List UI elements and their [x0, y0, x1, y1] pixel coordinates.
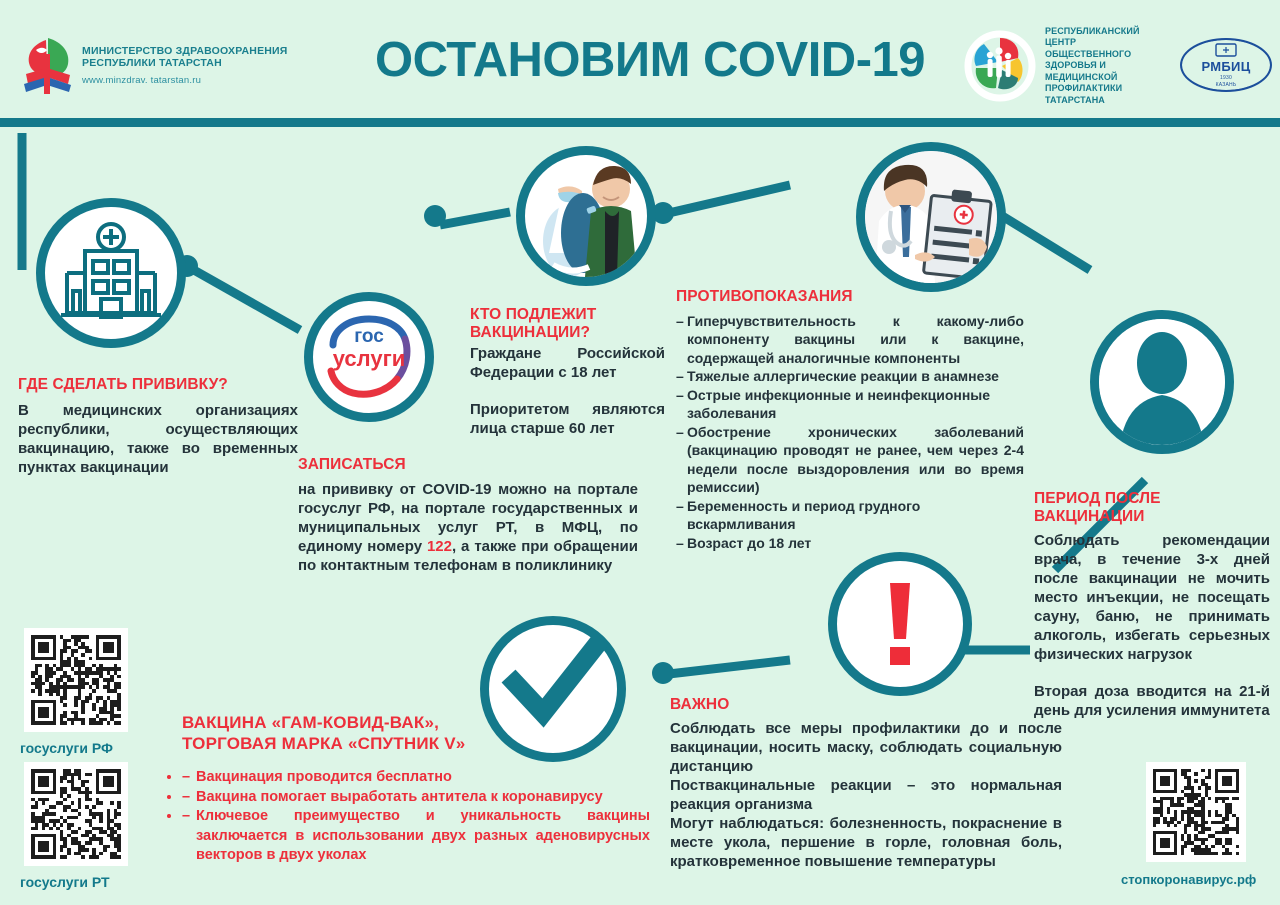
infographic-canvas: МИНИСТЕРСТВО ЗДРАВООХРАНЕНИЯ РЕСПУБЛИКИ …	[0, 0, 1280, 905]
section-where-to-vaccinate: ГДЕ СДЕЛАТЬ ПРИВИВКУ? В медицинских орга…	[18, 376, 298, 477]
center-name-line2: ЦЕНТР ОБЩЕСТВЕННОГО	[1045, 37, 1162, 60]
who-heading-line1: КТО ПОДЛЕЖИТ	[470, 306, 665, 324]
qr-gosuslugi-rf-label: госуслуги РФ	[20, 740, 113, 756]
center-name-line1: РЕСПУБЛИКАНСКИЙ	[1045, 26, 1162, 38]
where-body: В медицинских организациях республики, о…	[18, 401, 298, 477]
list-item: Вакцинация проводится бесплатно	[182, 768, 650, 788]
list-item: Обострение хронических заболеваний (вакц…	[676, 423, 1024, 497]
section-vaccine: ВАКЦИНА «ГАМ-КОВИД-ВАК», ТОРГОВАЯ МАРКА …	[182, 712, 650, 866]
qr-gosuslugi-rt[interactable]	[24, 762, 128, 866]
minzdrav-tatarstan-logo: МИНИСТЕРСТВО ЗДРАВООХРАНЕНИЯ РЕСПУБЛИКИ …	[18, 30, 288, 100]
center-name-line3: ЗДОРОВЬЯ И МЕДИЦИНСКОЙ	[1045, 60, 1162, 83]
connector-dot-2	[424, 205, 446, 227]
section-after-vaccination: ПЕРИОД ПОСЛЕ ВАКЦИНАЦИИ Соблюдать рекоме…	[1034, 490, 1270, 720]
public-health-emblem-icon	[962, 28, 1038, 104]
ministry-name-line1: МИНИСТЕРСТВО ЗДРАВООХРАНЕНИЯ	[82, 45, 288, 58]
contraindications-list: Гиперчувствительность к какому-либо комп…	[676, 312, 1024, 553]
vaccine-title-line2: ТОРГОВАЯ МАРКА «СПУТНИК V»	[182, 733, 650, 754]
person-silhouette-icon	[1090, 310, 1234, 454]
who-body-1: Граждане Российской Федерации с 18 лет	[470, 344, 665, 382]
qr-gosuslugi-rf[interactable]	[24, 628, 128, 732]
list-item: Гиперчувствительность к какому-либо комп…	[676, 312, 1024, 368]
tatarstan-emblem-icon	[18, 34, 76, 96]
who-heading-line2: ВАКЦИНАЦИИ?	[470, 324, 665, 342]
vaccine-title-line1: ВАКЦИНА «ГАМ-КОВИД-ВАК»,	[182, 712, 650, 733]
hospital-icon	[36, 198, 186, 348]
rmbic-logo: РМБИЦ 1930 КАЗАНЬ	[1180, 38, 1272, 92]
header: МИНИСТЕРСТВО ЗДРАВООХРАНЕНИЯ РЕСПУБЛИКИ …	[0, 0, 1280, 118]
ministry-name-line2: РЕСПУБЛИКИ ТАТАРСТАН	[82, 57, 288, 70]
doctor-clipboard-icon	[856, 142, 1006, 292]
vaccination-couple-icon	[516, 146, 656, 286]
after-body-2: Вторая доза вводится на 21-й день для ус…	[1034, 682, 1270, 720]
exclamation-icon	[828, 552, 972, 696]
ministry-url: www.minzdrav. tatarstan.ru	[82, 75, 288, 86]
list-item: Острые инфекционные и неинфекционные заб…	[676, 386, 1024, 423]
vaccine-benefits-list: Вакцинация проводится бесплатно Вакцина …	[182, 768, 650, 866]
section-important: ВАЖНО Соблюдать все меры профилактики до…	[670, 696, 1062, 871]
section-contraindications: ПРОТИВОПОКАЗАНИЯ Гиперчувствительность к…	[676, 288, 1024, 552]
list-item: Вакцина помогает выработать антитела к к…	[182, 788, 650, 808]
signup-phone: 122	[427, 538, 452, 555]
section-signup: ЗАПИСАТЬСЯ на прививку от COVID-19 можно…	[298, 456, 638, 575]
contraindications-heading: ПРОТИВОПОКАЗАНИЯ	[676, 288, 1024, 306]
qr-stopcoronavirus-label: стопкоронавирус.рф	[1121, 872, 1256, 887]
qr-stopcoronavirus[interactable]	[1146, 762, 1246, 862]
header-divider	[0, 118, 1280, 127]
connector-dot-4	[652, 662, 674, 684]
section-who-is-eligible: КТО ПОДЛЕЖИТ ВАКЦИНАЦИИ? Граждане Россий…	[470, 306, 665, 438]
list-item: Возраст до 18 лет	[676, 534, 1024, 553]
important-body-1: Соблюдать все меры профилактики до и пос…	[670, 719, 1062, 776]
list-item: Тяжелые аллергические реакции в анамнезе	[676, 367, 1024, 386]
important-heading: ВАЖНО	[670, 696, 1062, 714]
after-heading: ПЕРИОД ПОСЛЕ ВАКЦИНАЦИИ	[1034, 490, 1270, 525]
after-body-1: Соблюдать рекомендации врача, в течение …	[1034, 531, 1270, 664]
important-body-3: Могут наблюдаться: болезненность, покрас…	[670, 814, 1062, 871]
gosuslugi-label-top: гос	[313, 327, 425, 347]
signup-heading: ЗАПИСАТЬСЯ	[298, 456, 638, 474]
who-body-2: Приоритетом являются лица старше 60 лет	[470, 400, 665, 438]
where-heading: ГДЕ СДЕЛАТЬ ПРИВИВКУ?	[18, 376, 298, 394]
republican-center-logo: РЕСПУБЛИКАНСКИЙ ЦЕНТР ОБЩЕСТВЕННОГО ЗДОР…	[962, 26, 1162, 106]
gosuslugi-icon[interactable]: гос услуги	[304, 292, 434, 422]
list-item: Беременность и период грудного вскармлив…	[676, 497, 1024, 534]
important-body-2: Поствакцинальные реакции – это нормальна…	[670, 776, 1062, 814]
gosuslugi-label-bottom: услуги	[313, 347, 425, 371]
center-name-line4: ПРОФИЛАКТИКИ ТАТАРСТАНА	[1045, 83, 1162, 106]
signup-body: на прививку от COVID-19 можно на портале…	[298, 480, 638, 575]
page-title: ОСТАНОВИМ COVID-19	[330, 32, 970, 88]
qr-gosuslugi-rt-label: госуслуги РТ	[20, 874, 110, 890]
list-item: Ключевое преимущество и уникальность вак…	[182, 807, 650, 866]
